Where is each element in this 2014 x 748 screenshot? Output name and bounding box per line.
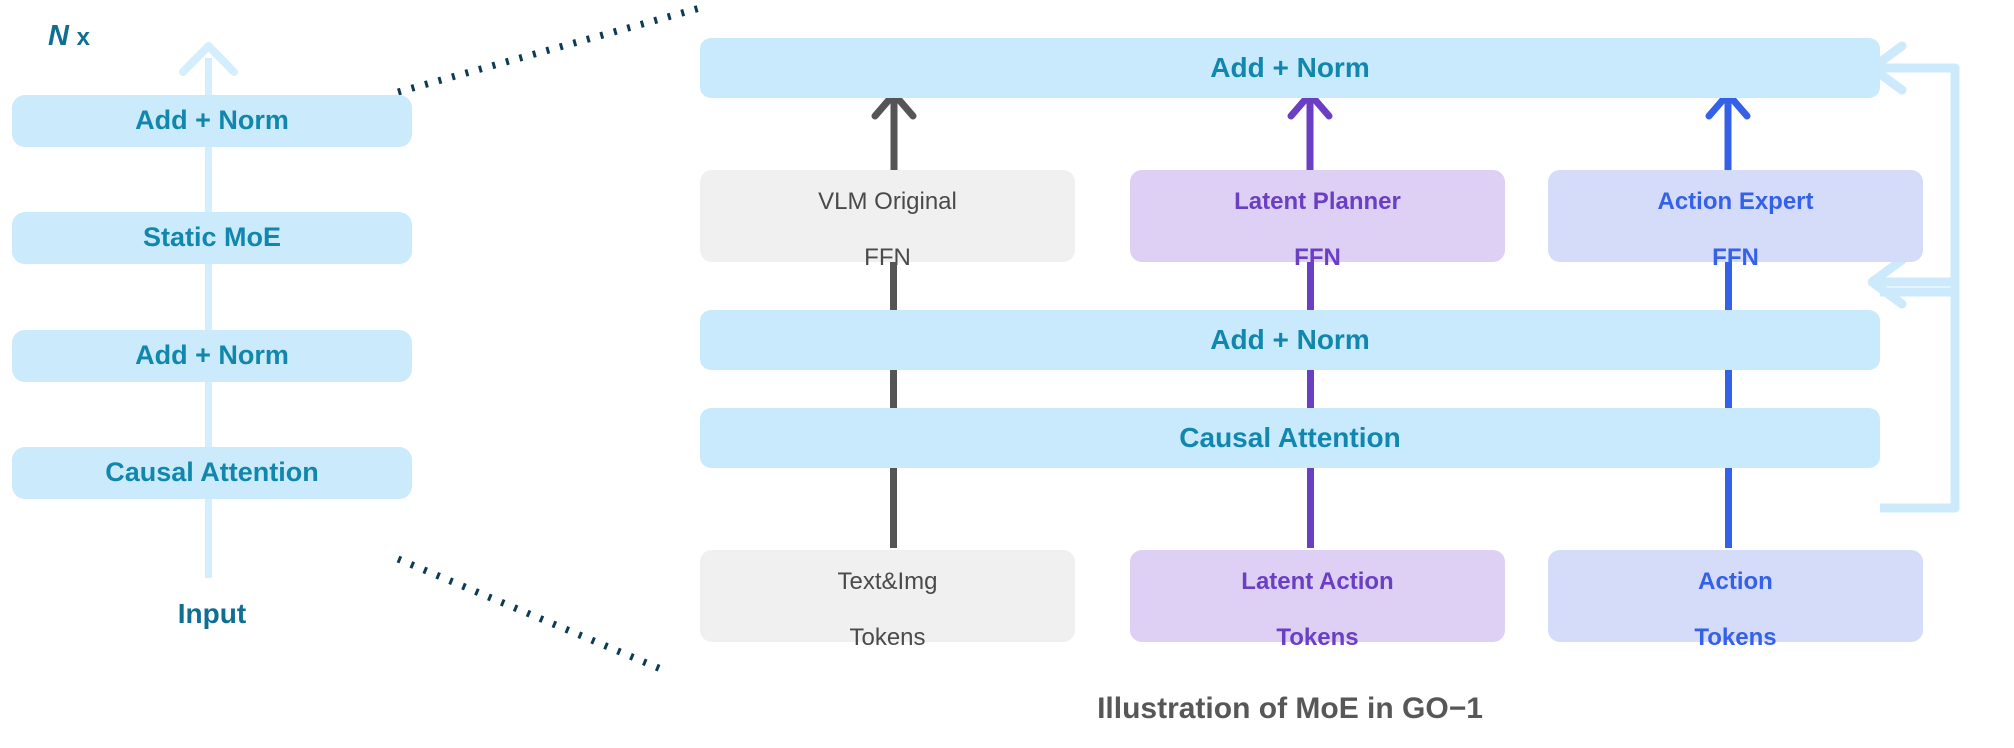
figure-caption: Illustration of MoE in GO−1 — [700, 692, 1880, 726]
latent-action-tokens-line2: Tokens — [1276, 624, 1358, 651]
action-expert-ffn-line2: FFN — [1712, 244, 1759, 271]
left-block-causal-attention[interactable]: Causal Attention — [12, 447, 412, 499]
repeat-count-x: x — [69, 24, 90, 51]
stem-gray-ffn-to-addnorm — [890, 262, 897, 310]
latent-planner-ffn-line1: Latent Planner — [1234, 188, 1401, 215]
text-img-tokens-line2: Tokens — [849, 624, 925, 651]
vlm-original-ffn-line1: VLM Original — [818, 188, 957, 215]
right-bar-add-norm-top[interactable]: Add + Norm — [700, 38, 1880, 98]
action-expert-ffn-line1: Action Expert — [1657, 188, 1813, 215]
stem-gray-addnorm-to-attn — [890, 370, 897, 408]
left-input-label: Input — [12, 598, 412, 630]
figure-canvas: N x Add + Norm Static MoE Add + Norm Cau… — [0, 0, 2014, 748]
vlm-original-ffn-box[interactable]: VLM Original FFN — [700, 170, 1075, 262]
stem-gray-tokens-to-attn — [890, 468, 897, 548]
text-img-tokens-box[interactable]: Text&Img Tokens — [700, 550, 1075, 642]
stem-blue-addnorm-to-attn — [1725, 370, 1732, 408]
action-tokens-box[interactable]: Action Tokens — [1548, 550, 1923, 642]
left-block-static-moe[interactable]: Static MoE — [12, 212, 412, 264]
latent-planner-ffn-box[interactable]: Latent Planner FFN — [1130, 170, 1505, 262]
stem-purple-ffn-to-addnorm — [1307, 262, 1314, 310]
action-expert-ffn-box[interactable]: Action Expert FFN — [1548, 170, 1923, 262]
latent-action-tokens-line1: Latent Action — [1241, 568, 1393, 595]
latent-action-tokens-box[interactable]: Latent Action Tokens — [1130, 550, 1505, 642]
latent-planner-ffn-line2: FFN — [1294, 244, 1341, 271]
action-tokens-line1: Action — [1698, 568, 1773, 595]
right-bar-causal-attention[interactable]: Causal Attention — [700, 408, 1880, 468]
right-bar-add-norm-mid[interactable]: Add + Norm — [700, 310, 1880, 370]
stem-purple-addnorm-to-attn — [1307, 370, 1314, 408]
dotted-connector-bottom — [398, 559, 668, 672]
repeat-count-label: N x — [48, 20, 90, 53]
stem-blue-tokens-to-attn — [1725, 468, 1732, 548]
vlm-original-ffn-line2: FFN — [864, 244, 911, 271]
repeat-count-n: N — [48, 20, 69, 52]
left-block-add-norm-top[interactable]: Add + Norm — [12, 95, 412, 147]
stem-blue-ffn-to-addnorm — [1725, 262, 1732, 310]
dotted-connector-top — [398, 8, 700, 92]
stem-purple-tokens-to-attn — [1307, 468, 1314, 548]
residual-path-mid — [1878, 282, 1955, 508]
residual-arrowhead-mid-icon — [1872, 260, 1902, 304]
action-tokens-line2: Tokens — [1694, 624, 1776, 651]
text-img-tokens-line1: Text&Img — [837, 568, 937, 595]
left-block-add-norm-bottom[interactable]: Add + Norm — [12, 330, 412, 382]
